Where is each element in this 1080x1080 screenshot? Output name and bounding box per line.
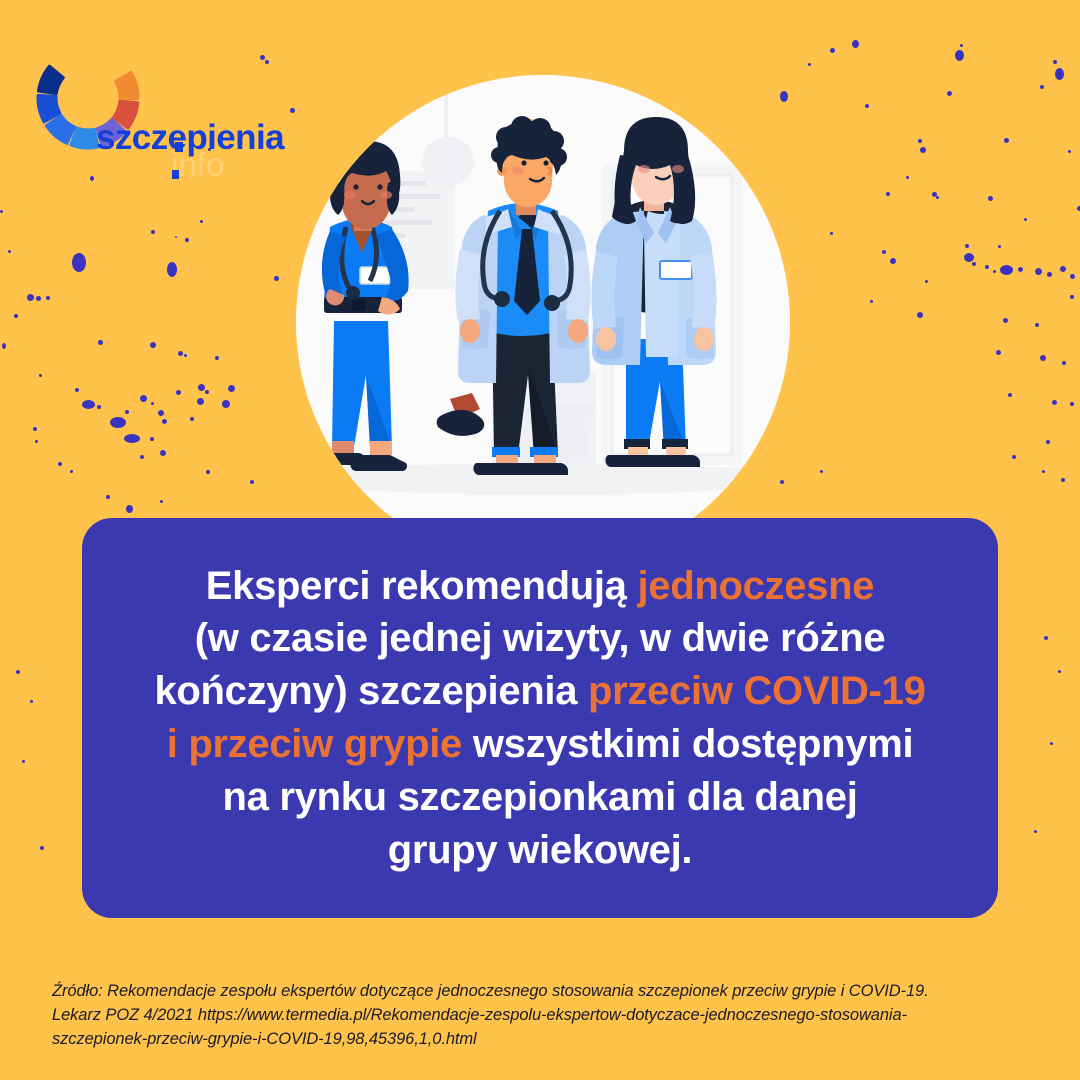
- splatter-dot: [1046, 440, 1050, 444]
- splatter-dot: [27, 294, 34, 301]
- logo-arc-segment: [38, 66, 63, 93]
- splatter-dot: [1044, 636, 1048, 640]
- hero-circle: [296, 75, 790, 569]
- splatter-dot: [985, 265, 989, 269]
- message-card: Eksperci rekomendują jednoczesne(w czasi…: [82, 518, 998, 918]
- splatter-dot: [1024, 218, 1027, 221]
- splatter-dot: [988, 196, 993, 201]
- splatter-dot: [16, 670, 20, 674]
- szczepienia-info-logo[interactable]: szczepienia info: [34, 44, 294, 156]
- plain-phrase: Eksperci rekomendują: [206, 564, 638, 608]
- splatter-dot: [1012, 455, 1016, 459]
- splatter-dot: [1053, 60, 1057, 64]
- splatter-dot: [1061, 478, 1065, 482]
- splatter-dot: [70, 470, 73, 473]
- splatter-dot: [46, 296, 50, 300]
- splatter-dot: [1070, 402, 1074, 406]
- splatter-dot: [1000, 265, 1013, 275]
- splatter-dot: [124, 434, 140, 443]
- splatter-dot: [932, 192, 937, 197]
- splatter-dot: [1062, 361, 1066, 365]
- splatter-dot: [1018, 267, 1023, 272]
- splatter-dot: [1034, 830, 1037, 833]
- splatter-dot: [150, 437, 154, 441]
- source-line: szczepionek-przeciw-grypie-i-COVID-19,98…: [52, 1028, 1042, 1052]
- splatter-dot: [947, 91, 952, 96]
- splatter-dot: [830, 232, 833, 235]
- splatter-dot: [852, 40, 859, 48]
- splatter-dot: [886, 192, 890, 196]
- splatter-dot: [184, 354, 187, 357]
- splatter-dot: [274, 276, 279, 281]
- splatter-dot: [906, 176, 909, 179]
- splatter-dot: [40, 846, 44, 850]
- plain-phrase: (w czasie jednej wizyty, w dwie różne: [195, 616, 886, 660]
- splatter-dot: [1070, 295, 1074, 299]
- splatter-dot: [960, 44, 963, 47]
- splatter-dot: [865, 104, 869, 108]
- message-line: kończyny) szczepienia przeciw COVID-19: [100, 665, 980, 718]
- splatter-dot: [936, 196, 939, 199]
- splatter-dot: [1003, 318, 1008, 323]
- splatter-dot: [925, 280, 928, 283]
- splatter-dot: [1068, 150, 1071, 153]
- splatter-dot: [82, 400, 95, 409]
- message-line: grupy wiekowej.: [100, 824, 980, 877]
- splatter-dot: [820, 470, 823, 473]
- source-line: Źródło: Rekomendacje zespołu ekspertów d…: [52, 980, 1042, 1004]
- splatter-dot: [30, 700, 33, 703]
- splatter-dot: [996, 350, 1001, 355]
- splatter-dot: [1004, 138, 1009, 143]
- splatter-dot: [965, 244, 969, 248]
- splatter-dot: [964, 253, 974, 262]
- splatter-dot: [1040, 355, 1046, 361]
- splatter-dot: [162, 419, 167, 424]
- splatter-dot: [167, 262, 177, 277]
- splatter-dot: [160, 450, 166, 456]
- splatter-dot: [98, 340, 103, 345]
- splatter-dot: [917, 312, 923, 318]
- plain-phrase: grupy wiekowej.: [388, 828, 692, 872]
- splatter-dot: [1070, 274, 1075, 279]
- splatter-dot: [8, 250, 11, 253]
- splatter-dot: [110, 417, 126, 428]
- splatter-dot: [1035, 268, 1042, 275]
- plain-phrase: wszystkimi dostępnymi: [462, 722, 913, 766]
- message-line: (w czasie jednej wizyty, w dwie różne: [100, 612, 980, 665]
- plain-phrase: na rynku szczepionkami dla danej: [222, 775, 857, 819]
- splatter-dot: [1042, 470, 1045, 473]
- splatter-dot: [14, 314, 18, 318]
- splatter-dot: [125, 410, 129, 414]
- splatter-dot: [58, 462, 62, 466]
- splatter-dot: [222, 400, 230, 408]
- splatter-dot: [1058, 670, 1061, 673]
- splatter-dot: [185, 238, 189, 242]
- splatter-dot: [200, 220, 203, 223]
- splatter-dot: [197, 398, 204, 405]
- splatter-dot: [1035, 323, 1039, 327]
- message-line: na rynku szczepionkami dla danej: [100, 771, 980, 824]
- source-line: Lekarz POZ 4/2021 https://www.termedia.p…: [52, 1004, 1042, 1028]
- splatter-dot: [72, 253, 86, 272]
- splatter-dot: [1040, 85, 1044, 89]
- splatter-dot: [90, 176, 94, 181]
- splatter-dot: [2, 343, 6, 349]
- splatter-dot: [808, 63, 811, 66]
- logo-arc-segment: [71, 128, 98, 148]
- message-line: Eksperci rekomendują jednoczesne: [100, 560, 980, 613]
- splatter-dot: [1060, 266, 1066, 272]
- source-citation: Źródło: Rekomendacje zespołu ekspertów d…: [52, 980, 1042, 1052]
- infographic-canvas: szczepienia info: [0, 0, 1080, 1080]
- splatter-dot: [993, 270, 996, 273]
- splatter-dot: [33, 427, 37, 431]
- splatter-dot: [106, 495, 110, 499]
- splatter-dot: [22, 760, 25, 763]
- splatter-dot: [890, 258, 896, 264]
- splatter-dot: [250, 480, 254, 484]
- splatter-dot: [151, 402, 154, 405]
- splatter-dot: [140, 455, 144, 459]
- splatter-dot: [972, 262, 976, 266]
- splatter-dot: [190, 417, 194, 421]
- splatter-dot: [158, 410, 164, 416]
- highlight-phrase: i przeciw grypie: [167, 722, 462, 766]
- plain-phrase: kończyny) szczepienia: [154, 669, 588, 713]
- splatter-dot: [150, 342, 156, 348]
- splatter-dot: [1050, 742, 1053, 745]
- message-text: Eksperci rekomendują jednoczesne(w czasi…: [82, 560, 998, 877]
- splatter-dot: [176, 390, 181, 395]
- logo-tld-wrap: info: [171, 148, 224, 181]
- highlight-phrase: przeciw COVID-19: [588, 669, 926, 713]
- splatter-dot: [160, 500, 163, 503]
- splatter-dot: [126, 505, 133, 513]
- logo-dot-upper: [175, 142, 183, 152]
- message-line: i przeciw grypie wszystkimi dostępnymi: [100, 718, 980, 771]
- splatter-dot: [140, 395, 147, 402]
- splatter-dot: [39, 374, 42, 377]
- splatter-dot: [1008, 393, 1012, 397]
- splatter-dot: [178, 351, 183, 356]
- splatter-dot: [998, 245, 1001, 248]
- splatter-dot: [206, 470, 210, 474]
- splatter-dot: [920, 147, 926, 153]
- splatter-dot: [830, 48, 835, 53]
- splatter-dot: [955, 50, 964, 61]
- splatter-dot: [151, 230, 155, 234]
- splatter-dot: [75, 388, 79, 392]
- splatter-dot: [1052, 400, 1057, 405]
- splatter-dot: [918, 139, 922, 143]
- splatter-dot: [36, 296, 41, 301]
- splatter-dot: [175, 236, 177, 238]
- splatter-dot: [35, 440, 38, 443]
- splatter-dot: [1047, 272, 1052, 277]
- splatter-dot: [870, 300, 873, 303]
- splatter-dot: [97, 405, 101, 409]
- splatter-dot: [205, 390, 209, 394]
- splatter-dot: [215, 356, 219, 360]
- splatter-dot: [882, 250, 886, 254]
- splatter-dot: [1055, 68, 1064, 80]
- highlight-phrase: jednoczesne: [637, 564, 874, 608]
- logo-dot-lower: [172, 170, 179, 179]
- three-medical-professionals-illustration: [296, 75, 790, 569]
- splatter-dot: [198, 384, 205, 391]
- splatter-dot: [228, 385, 235, 392]
- splatter-dot: [0, 210, 3, 213]
